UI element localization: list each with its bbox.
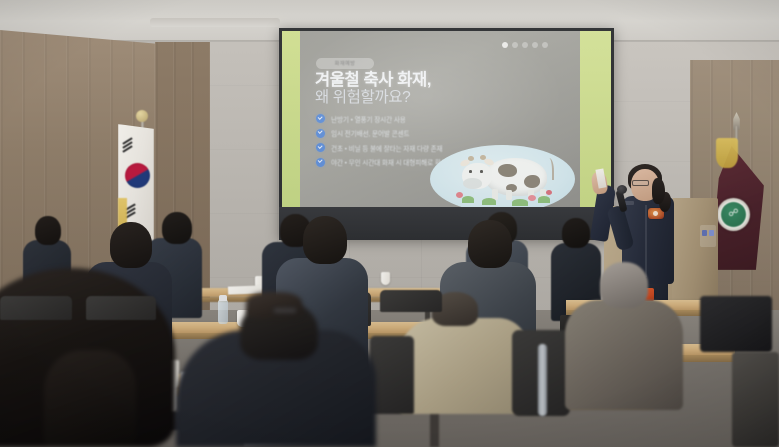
presenter-badge-emblem xyxy=(653,211,658,216)
slide-bullet-3-text: 건초 • 비닐 등 불에 잘타는 자재 다량 존재 xyxy=(331,143,443,153)
taeguk-circle xyxy=(125,163,150,188)
presenter-jacket-zipper xyxy=(645,205,647,277)
flagpole-finial-left xyxy=(136,110,148,122)
slide-eyebrow-pill: 화재예방 xyxy=(316,58,374,69)
podium-button[interactable] xyxy=(702,230,707,236)
slide-title-line1: 겨울철 축사 화재, xyxy=(315,72,565,89)
foreground-object-right xyxy=(732,352,779,447)
chair-frame xyxy=(538,344,547,416)
pagination-dot-5 xyxy=(542,42,548,48)
check-icon xyxy=(316,129,325,138)
lecture-room-photograph: 화재예방 겨울철 축사 화재, 왜 위험할까요? 난방기 • 열풍기 장시간 사… xyxy=(0,0,779,447)
flag-tassel xyxy=(716,138,738,168)
pagination-dot-4 xyxy=(532,42,538,48)
check-icon xyxy=(316,143,325,152)
flower xyxy=(456,192,463,198)
presenter-hair-side xyxy=(652,178,665,204)
slide-bullet-1: 난방기 • 열풍기 장시간 사용 xyxy=(316,112,556,125)
slide-bullet-4-text: 야간 • 무인 시간대 화재 시 대형피해로 확산 xyxy=(331,157,447,167)
check-icon xyxy=(316,158,325,167)
slide-bullet-1-text: 난방기 • 열풍기 장시간 사용 xyxy=(331,114,406,124)
equipment-case xyxy=(700,296,772,352)
slide-bullet-2-text: 임시 전기배선, 문어발 콘센트 xyxy=(331,128,410,138)
cow-spot xyxy=(498,164,517,177)
ceiling-vent xyxy=(150,18,280,27)
slide-title-line2: 왜 위험할까요? xyxy=(315,90,565,106)
podium-control-panel xyxy=(700,225,716,247)
cow-leg xyxy=(506,190,512,200)
water-bottle xyxy=(218,300,228,324)
chair-back[interactable] xyxy=(370,336,414,414)
bottle-cap xyxy=(219,295,227,301)
podium xyxy=(672,198,718,308)
chair-back[interactable] xyxy=(380,290,442,312)
cow-eye xyxy=(480,170,483,173)
grass-tuft xyxy=(462,196,474,203)
slide-bullet-2: 임시 전기배선, 문어발 콘센트 xyxy=(316,127,556,140)
presenter-glasses xyxy=(632,180,649,186)
grass-tuft xyxy=(482,198,496,205)
screen-side-strip-left xyxy=(282,31,300,207)
pagination-dot-3 xyxy=(522,42,528,48)
flower xyxy=(546,190,552,195)
chair-back[interactable] xyxy=(0,296,72,320)
pagination-dot-1 xyxy=(502,42,508,48)
pagination-dot-2 xyxy=(512,42,518,48)
organization-emblem-icon: ☍ xyxy=(727,208,740,220)
flower xyxy=(528,195,536,201)
cow-muzzle xyxy=(463,178,482,189)
check-icon xyxy=(316,114,325,123)
chair-back[interactable] xyxy=(86,296,156,320)
paper-cup xyxy=(381,272,390,285)
grass-tuft xyxy=(512,199,528,206)
podium-button[interactable] xyxy=(709,230,714,236)
microphone-head xyxy=(617,185,627,194)
grass-tuft xyxy=(538,196,550,203)
cow-spot xyxy=(524,175,540,188)
cow-eye xyxy=(469,170,472,173)
slide-eyebrow-label: 화재예방 xyxy=(335,60,356,67)
slide-pagination-dots xyxy=(502,42,548,48)
